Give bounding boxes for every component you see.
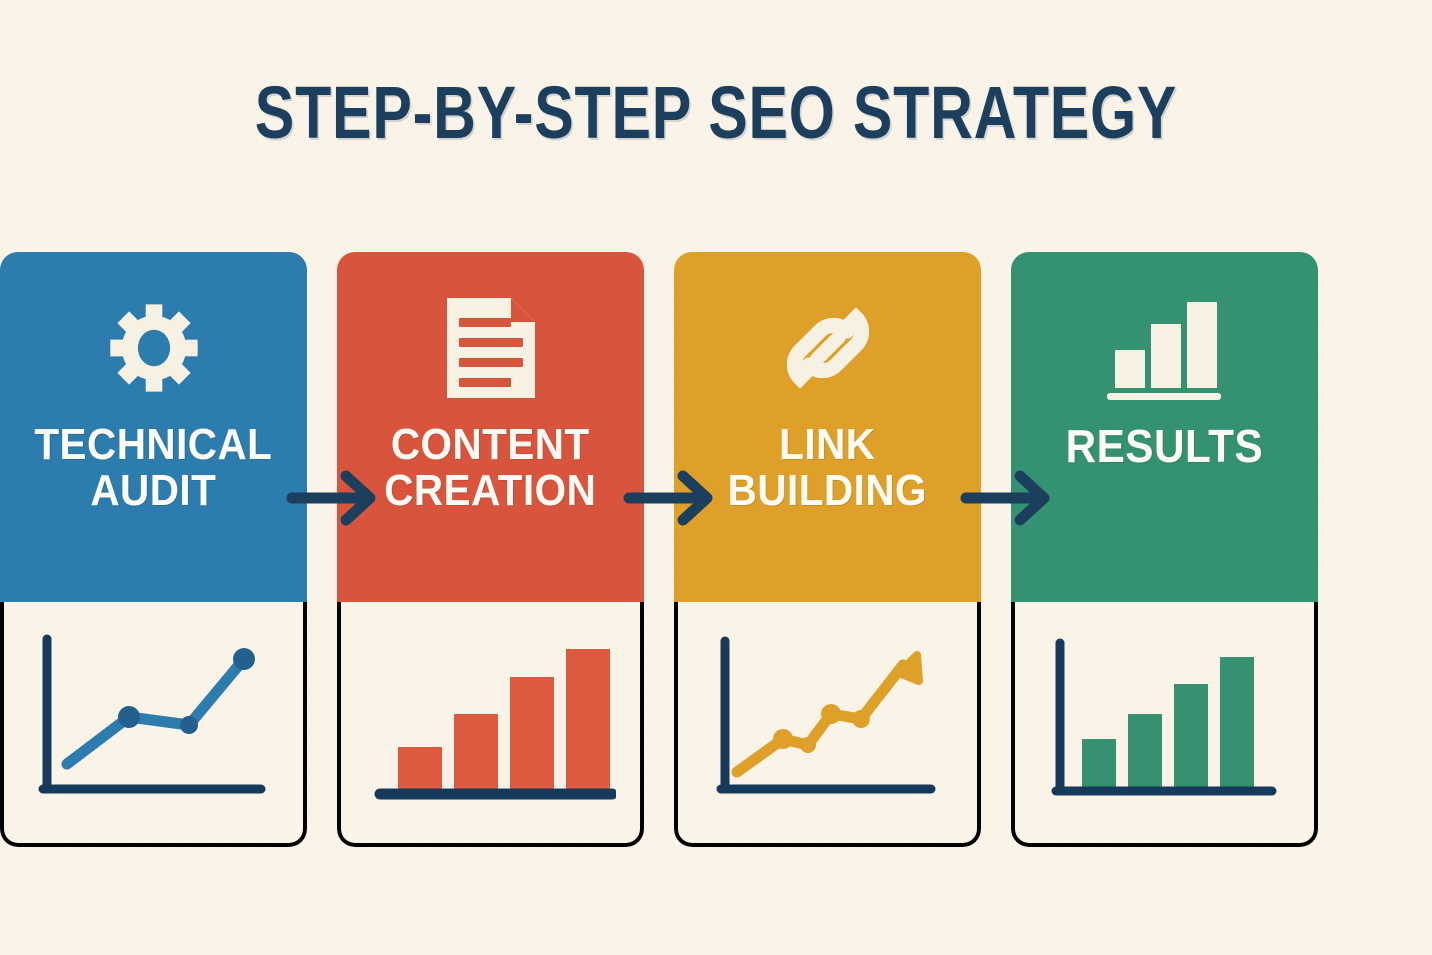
step-card-link-building[interactable]: LINK BUILDING xyxy=(674,252,981,847)
page-title: STEP-BY-STEP SEO STRATEGY xyxy=(143,76,1289,150)
step-card-header: TECHNICAL AUDIT xyxy=(0,252,307,602)
document-icon xyxy=(441,288,541,408)
arrow-right-icon-1 xyxy=(286,468,390,528)
line-chart-link-building xyxy=(688,624,967,814)
step-card-technical-audit[interactable]: TECHNICAL AUDIT xyxy=(0,252,307,847)
step-card-chart-panel xyxy=(1011,602,1318,847)
arrow-right-icon-3 xyxy=(960,468,1064,528)
step-card-header: CONTENT CREATION xyxy=(337,252,644,602)
step-card-chart-panel xyxy=(0,602,307,847)
step-card-label: RESULTS xyxy=(1058,422,1270,470)
arrow-right-icon-2 xyxy=(623,468,727,528)
steps-board: TECHNICAL AUDIT xyxy=(0,252,1432,852)
bar-chart-icon xyxy=(1105,288,1225,408)
step-card-chart-panel xyxy=(337,602,644,847)
bar-chart-content-creation xyxy=(351,624,630,814)
step-card-label: LINK BUILDING xyxy=(720,422,934,514)
gear-icon xyxy=(102,288,206,408)
link-icon xyxy=(773,288,883,408)
step-card-header: LINK BUILDING xyxy=(674,252,981,602)
step-card-header: RESULTS xyxy=(1011,252,1318,602)
bar-chart-results xyxy=(1025,624,1304,814)
line-chart-technical-audit xyxy=(14,624,293,814)
step-card-label: TECHNICAL AUDIT xyxy=(27,422,280,514)
step-card-label: CONTENT CREATION xyxy=(377,422,604,514)
step-card-content-creation[interactable]: CONTENT CREATION xyxy=(337,252,644,847)
step-card-chart-panel xyxy=(674,602,981,847)
step-card-results[interactable]: RESULTS xyxy=(1011,252,1318,847)
